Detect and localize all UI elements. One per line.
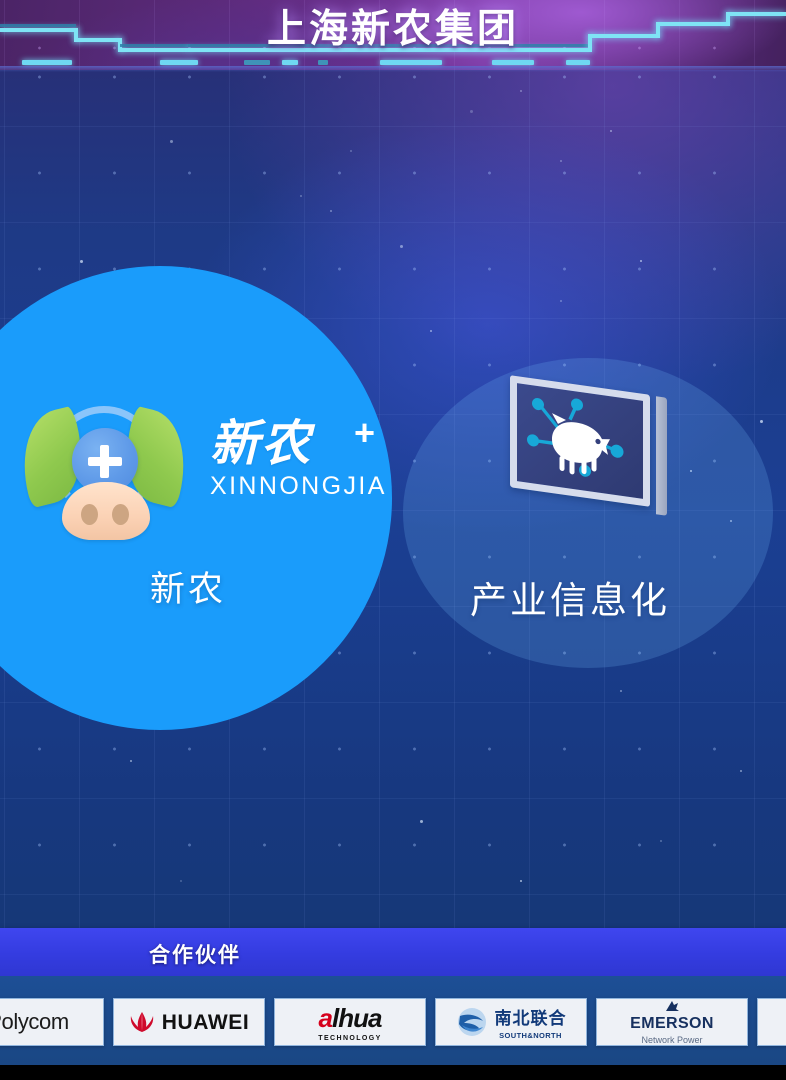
wordmark-pinyin: XINNONGJIA bbox=[210, 472, 410, 501]
partner-sublabel: SOUTH&NORTH bbox=[499, 1031, 562, 1040]
header-dash bbox=[244, 60, 270, 65]
partner-logo-polycom[interactable]: Polycom bbox=[0, 998, 104, 1046]
partner-logo-globe[interactable] bbox=[757, 998, 786, 1046]
partners-strip: Polycom HUAWEI alhua TECHNOLOGY bbox=[0, 976, 786, 1065]
partner-logo-emerson[interactable]: EMERSON Network Power bbox=[596, 998, 748, 1046]
header-dash bbox=[380, 60, 442, 65]
monitor-side-panel bbox=[656, 396, 667, 516]
nostril-right-icon bbox=[112, 504, 129, 525]
header-dash bbox=[492, 60, 534, 65]
header-dash bbox=[160, 60, 198, 65]
partner-sublabel: TECHNOLOGY bbox=[318, 1035, 381, 1042]
wordmark-plus: + bbox=[354, 412, 375, 454]
xinnong-wordmark: 新农 + XINNONGJIA bbox=[210, 418, 410, 501]
wordmark-cn: 新农 bbox=[210, 418, 410, 469]
globe-swoosh-icon bbox=[456, 1007, 488, 1037]
partner-label: alhua bbox=[319, 1003, 382, 1034]
nostril-left-icon bbox=[81, 504, 98, 525]
partner-sublabel: Network Power bbox=[641, 1035, 702, 1045]
huawei-flower-icon bbox=[129, 1010, 155, 1034]
header-dash bbox=[318, 60, 328, 65]
circle-label-informatization: 产业信息化 bbox=[470, 570, 670, 624]
kiosk-screen: 上海新农集团 新农 + XINNONGJIA 新农 bbox=[0, 0, 786, 1080]
partner-label: 南北联合 bbox=[495, 1004, 567, 1029]
header-dash bbox=[22, 60, 72, 65]
partners-list: Polycom HUAWEI alhua TECHNOLOGY bbox=[0, 998, 786, 1046]
partner-label: EMERSON bbox=[630, 1015, 714, 1033]
partner-logo-dahua[interactable]: alhua TECHNOLOGY bbox=[274, 998, 426, 1046]
page-header: 上海新农集团 bbox=[0, 0, 786, 70]
circle-label-xinnong: 新农 bbox=[150, 561, 226, 612]
pig-network-graphic bbox=[518, 382, 642, 499]
partner-label: Polycom bbox=[0, 1011, 69, 1033]
header-base-band bbox=[0, 66, 786, 72]
monitor-pig-network-icon bbox=[510, 385, 680, 570]
partner-label: HUAWEI bbox=[162, 1012, 250, 1033]
emerson-mark-icon bbox=[663, 1000, 681, 1015]
partner-logo-south-north[interactable]: 南北联合 SOUTH&NORTH bbox=[435, 998, 587, 1046]
header-dash bbox=[282, 60, 298, 65]
xinnong-logo-icon bbox=[14, 398, 194, 548]
partners-title: 合作伙伴 bbox=[0, 939, 390, 969]
partner-logo-huawei[interactable]: HUAWEI bbox=[113, 998, 265, 1046]
page-title: 上海新农集团 bbox=[0, 0, 786, 54]
screen-bottom-bar bbox=[0, 1065, 786, 1080]
header-dash bbox=[566, 60, 590, 65]
partners-band: 合作伙伴 bbox=[0, 928, 786, 976]
